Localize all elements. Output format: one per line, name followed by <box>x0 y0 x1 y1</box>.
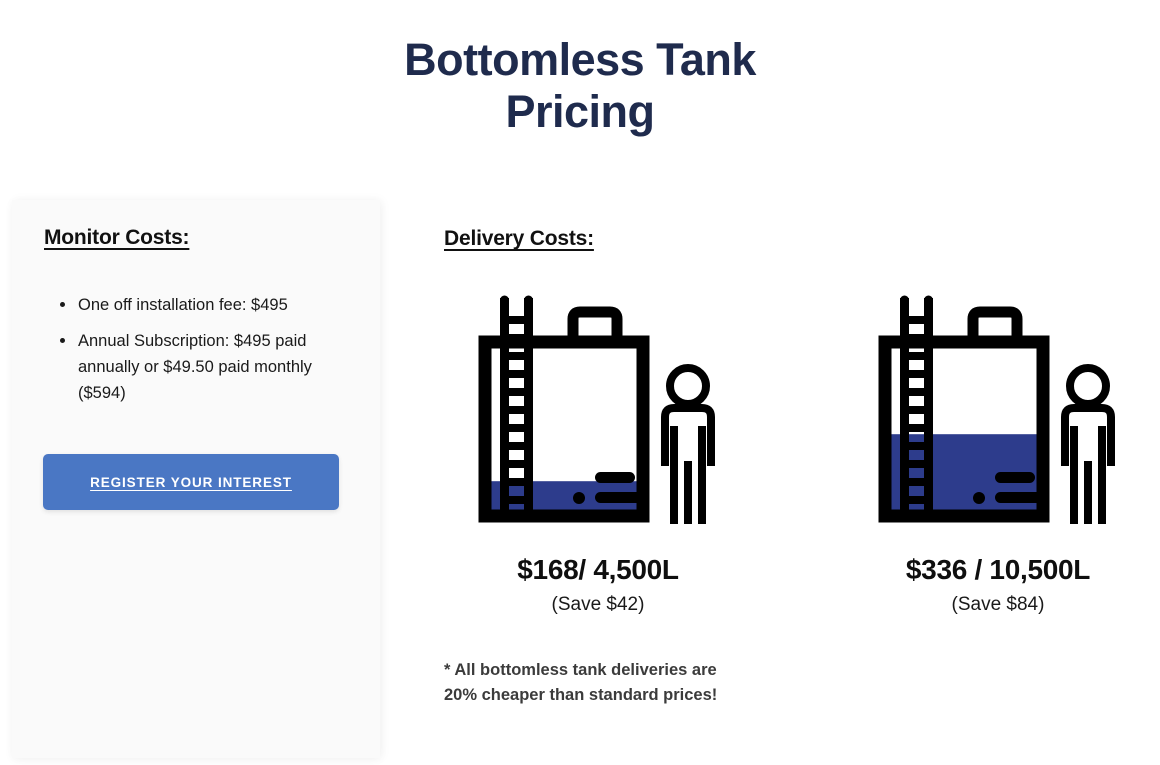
page-title: Bottomless Tank Pricing <box>0 34 1160 138</box>
storage-tank-icon <box>848 286 1148 536</box>
monitor-costs-list: One off installation fee: $495 Annual Su… <box>60 292 360 416</box>
tank-pricing-card-small: $168/ 4,500L (Save $42) <box>448 286 748 616</box>
tank-savings: (Save $84) <box>848 594 1148 616</box>
delivery-footnote: * All bottomless tank deliveries are 20%… <box>444 658 734 708</box>
monitor-costs-panel: Monitor Costs: One off installation fee:… <box>12 200 380 758</box>
tank-savings: (Save $42) <box>448 594 748 616</box>
tank-pricing-card-large: $336 / 10,500L (Save $84) <box>848 286 1148 616</box>
storage-tank-icon <box>448 286 748 536</box>
list-item: Annual Subscription: $495 paid annually … <box>60 328 360 406</box>
list-item: One off installation fee: $495 <box>60 292 360 318</box>
monitor-costs-heading: Monitor Costs: <box>44 226 189 250</box>
page-title-line-1: Bottomless Tank <box>0 34 1160 86</box>
page-title-line-2: Pricing <box>0 86 1160 138</box>
register-your-interest-button[interactable]: REGISTER YOUR INTEREST <box>43 454 339 510</box>
person-scale-icon <box>1065 368 1111 524</box>
delivery-costs-heading: Delivery Costs: <box>444 227 594 251</box>
tank-price: $168/ 4,500L <box>448 554 748 586</box>
person-scale-icon <box>665 368 711 524</box>
tank-price: $336 / 10,500L <box>848 554 1148 586</box>
